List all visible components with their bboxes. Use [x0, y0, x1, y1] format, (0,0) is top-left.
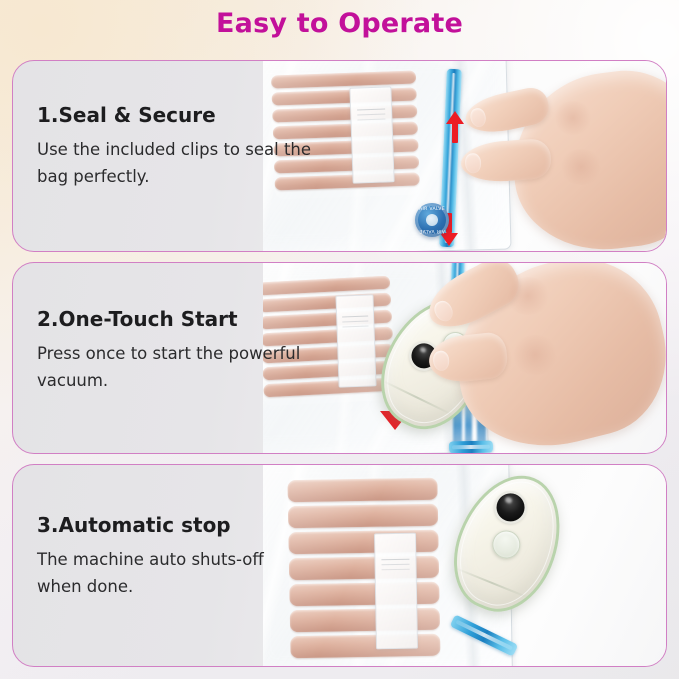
bag-paper-label-3 — [374, 533, 418, 650]
step-2-photo — [263, 263, 666, 453]
step-3-description: The machine auto shuts-off when done. — [37, 547, 312, 600]
step-card-2: 2.One-Touch Start Press once to start th… — [12, 262, 667, 454]
step-1-text: 1.Seal & Secure Use the included clips t… — [37, 103, 312, 190]
step-1-title: 1.Seal & Secure — [37, 103, 312, 127]
bag-paper-label-2 — [335, 294, 376, 387]
page-title: Easy to Operate — [0, 8, 679, 39]
air-valve-1: AIR VALVE AIR VALVE — [415, 203, 449, 237]
step-3-title: 3.Automatic stop — [37, 513, 312, 537]
valve-label-bottom: AIR VALVE — [415, 228, 449, 233]
bag-paper-label-1 — [349, 86, 394, 183]
step-1-description: Use the included clips to seal the bag p… — [37, 137, 312, 190]
step-card-3: 3.Automatic stop The machine auto shuts-… — [12, 464, 667, 667]
step-3-text: 3.Automatic stop The machine auto shuts-… — [37, 513, 312, 600]
step-card-1: AIR VALVE AIR VALVE — [12, 60, 667, 252]
step-2-title: 2.One-Touch Start — [37, 307, 312, 331]
bag-zipper-bottom-2 — [449, 441, 493, 453]
infographic-page: Easy to Operate — [0, 0, 679, 679]
air-valve-text-1: AIR VALVE AIR VALVE — [415, 203, 449, 237]
step-2-description: Press once to start the powerful vacuum. — [37, 341, 312, 394]
step-3-photo — [263, 465, 666, 666]
valve-label-top: AIR VALVE — [415, 207, 449, 212]
step-1-photo: AIR VALVE AIR VALVE — [263, 61, 666, 251]
step-2-text: 2.One-Touch Start Press once to start th… — [37, 307, 312, 394]
